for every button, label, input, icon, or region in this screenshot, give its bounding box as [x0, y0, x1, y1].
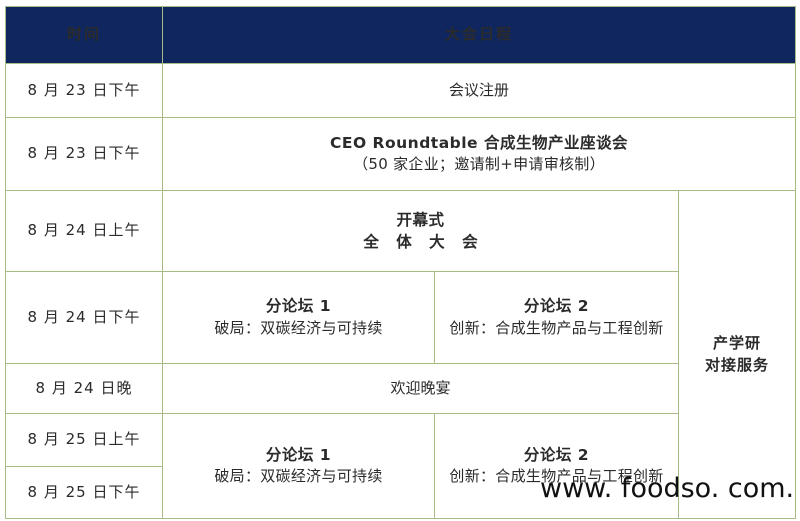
forum-1-cell: 分论坛 1 破局：双碳经济与可持续 — [163, 272, 435, 364]
header-cell-agenda: 大会日程 — [163, 7, 796, 64]
session-cell-registration: 会议注册 — [163, 64, 796, 118]
session-cell-ceo-roundtable: CEO Roundtable 合成生物产业座谈会 （50 家企业；邀请制+申请审… — [163, 118, 796, 191]
session-title: CEO Roundtable 合成生物产业座谈会 — [167, 132, 791, 154]
forum-1-subtitle: 破局：双碳经济与可持续 — [167, 466, 430, 488]
time-cell: 8 月 25 日上午 — [6, 414, 163, 467]
header-row: 时间 大会日程 — [6, 7, 796, 64]
forum-2-title: 分论坛 2 — [439, 444, 674, 466]
forum-2-cell: 分论坛 2 创新：合成生物产品与工程创新 — [435, 272, 679, 364]
session-subtitle: 全 体 大 会 — [167, 231, 674, 253]
session-title: 开幕式 — [167, 209, 674, 231]
table-row: 8 月 25 日上午 分论坛 1 破局：双碳经济与可持续 分论坛 2 创新：合成… — [6, 414, 796, 467]
time-cell: 8 月 25 日下午 — [6, 467, 163, 519]
forum-2-subtitle: 创新：合成生物产品与工程创新 — [439, 466, 674, 488]
session-cell-welcome-dinner: 欢迎晚宴 — [163, 364, 679, 414]
time-cell: 8 月 24 日下午 — [6, 272, 163, 364]
time-cell: 8 月 23 日下午 — [6, 118, 163, 191]
header-cell-time: 时间 — [6, 7, 163, 64]
forum-2-cell: 分论坛 2 创新：合成生物产品与工程创新 — [435, 414, 679, 519]
forum-1-subtitle: 破局：双碳经济与可持续 — [167, 318, 430, 340]
table-row: 8 月 24 日晚 欢迎晚宴 — [6, 364, 796, 414]
table-header: 时间 大会日程 — [6, 7, 796, 64]
table-row: 8 月 24 日下午 分论坛 1 破局：双碳经济与可持续 分论坛 2 创新：合成… — [6, 272, 796, 364]
table-row: 8 月 24 日上午 开幕式 全 体 大 会 产学研 对接服务 — [6, 191, 796, 272]
time-cell: 8 月 24 日上午 — [6, 191, 163, 272]
agenda-table-container: 时间 大会日程 8 月 23 日下午 会议注册 8 月 23 日下午 CEO R… — [5, 6, 795, 515]
session-subtitle: （50 家企业；邀请制+申请审核制） — [167, 154, 791, 176]
time-cell: 8 月 24 日晚 — [6, 364, 163, 414]
service-line-2: 对接服务 — [683, 355, 791, 377]
forum-2-title: 分论坛 2 — [439, 295, 674, 317]
time-cell: 8 月 23 日下午 — [6, 64, 163, 118]
conference-agenda-table: 时间 大会日程 8 月 23 日下午 会议注册 8 月 23 日下午 CEO R… — [5, 6, 796, 519]
table-row: 8 月 23 日下午 会议注册 — [6, 64, 796, 118]
service-column-cell: 产学研 对接服务 — [679, 191, 796, 519]
table-row: 8 月 23 日下午 CEO Roundtable 合成生物产业座谈会 （50 … — [6, 118, 796, 191]
forum-1-cell: 分论坛 1 破局：双碳经济与可持续 — [163, 414, 435, 519]
forum-2-subtitle: 创新：合成生物产品与工程创新 — [439, 318, 674, 340]
session-cell-opening-ceremony: 开幕式 全 体 大 会 — [163, 191, 679, 272]
forum-1-title: 分论坛 1 — [167, 444, 430, 466]
forum-1-title: 分论坛 1 — [167, 295, 430, 317]
table-body: 8 月 23 日下午 会议注册 8 月 23 日下午 CEO Roundtabl… — [6, 64, 796, 519]
service-line-1: 产学研 — [683, 333, 791, 355]
